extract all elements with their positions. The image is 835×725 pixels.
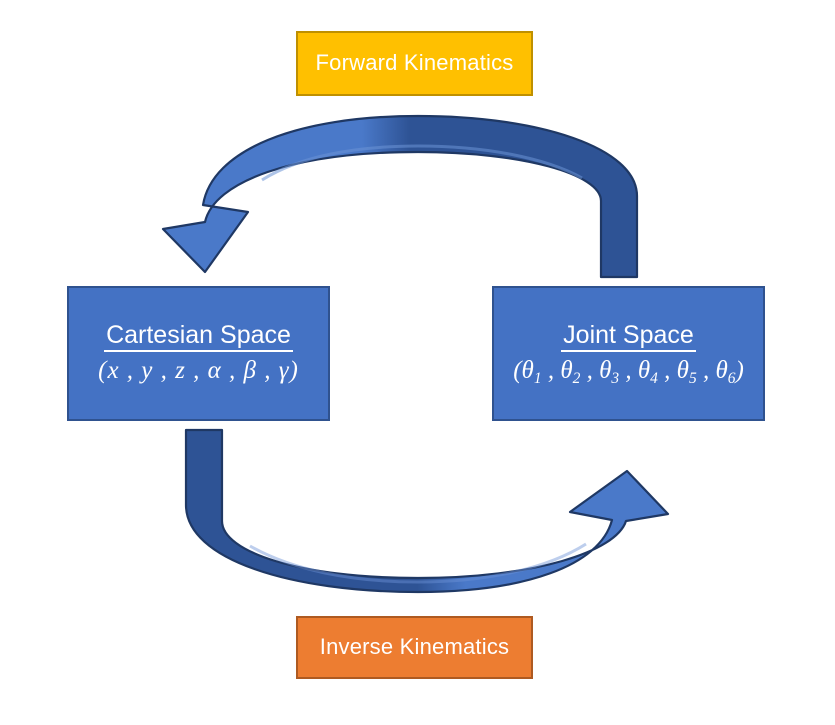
cartesian-space-title: Cartesian Space [104,321,293,353]
forward-kinematics-label: Forward Kinematics [316,51,514,75]
cartesian-space-content: Cartesian Space (x , y , z , α , β , γ) [98,321,299,387]
forward-kinematics-box[interactable]: Forward Kinematics [296,31,533,96]
inverse-kinematics-arrow [186,430,668,592]
inverse-kinematics-label: Inverse Kinematics [320,635,509,659]
inverse-kinematics-box[interactable]: Inverse Kinematics [296,616,533,679]
joint-space-formula: (θ1 , θ2 , θ3 , θ4 , θ5 , θ6) [513,355,744,386]
diagram-canvas: Forward Kinematics Cartesian Space (x , … [0,0,835,725]
joint-space-box[interactable]: Joint Space (θ1 , θ2 , θ3 , θ4 , θ5 , θ6… [492,286,765,421]
cartesian-space-formula: (x , y , z , α , β , γ) [98,355,299,386]
forward-kinematics-arrow [163,116,637,277]
cartesian-space-box[interactable]: Cartesian Space (x , y , z , α , β , γ) [67,286,330,421]
joint-space-title: Joint Space [561,321,696,353]
joint-space-content: Joint Space (θ1 , θ2 , θ3 , θ4 , θ5 , θ6… [513,321,744,387]
